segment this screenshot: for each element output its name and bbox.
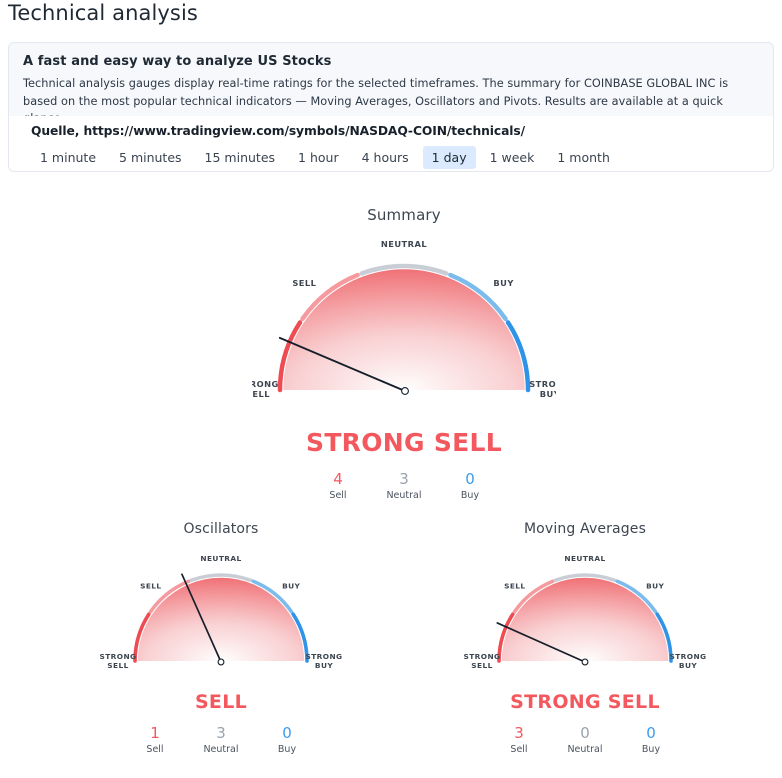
gauge-svg: STRONGSELLSELLNEUTRALBUYSTRONGBUY [252,232,556,422]
count-label-sell: Sell [486,743,552,757]
count-label-sell: Sell [122,743,188,757]
count-value-sell: 4 [305,470,371,489]
count-sell-moving-averages: 3Sell [486,724,552,757]
count-sell-summary: 4Sell [305,470,371,503]
label-strong-sell: STRONGSELL [464,652,501,670]
gauge-title-oscillators: Oscillators [100,521,342,537]
page-title: Technical analysis [8,0,198,28]
timeframe-tab-1-hour[interactable]: 1 hour [289,146,348,169]
count-sell-oscillators: 1Sell [122,724,188,757]
timeframe-tab-1-day[interactable]: 1 day [423,146,476,169]
count-value-neutral: 3 [371,470,437,489]
count-value-buy: 0 [618,724,684,743]
count-value-sell: 1 [122,724,188,743]
verdict-oscillators: SELL [100,691,342,713]
counts-summary: 4Sell3Neutral0Buy [252,470,556,503]
label-strong-buy: STRONGBUY [529,379,556,399]
label-buy: BUY [646,582,664,591]
count-label-buy: Buy [618,743,684,757]
gauge-dial-oscillators: STRONGSELLSELLNEUTRALBUYSTRONGBUY [100,543,342,689]
timeframe-tabs: 1 minute5 minutes15 minutes1 hour4 hours… [31,146,624,169]
gauge-pivot [218,659,224,665]
label-buy: BUY [493,278,514,288]
timeframe-tab-4-hours[interactable]: 4 hours [353,146,418,169]
count-neutral-oscillators: 3Neutral [188,724,254,757]
count-label-buy: Buy [437,489,503,503]
gauge-block-oscillators: Oscillators STRONGSELLSELLNEUTRALBUYSTRO… [100,521,342,757]
count-label-neutral: Neutral [552,743,618,757]
gauge-dial-summary: STRONGSELLSELLNEUTRALBUYSTRONGBUY [252,232,556,426]
source-and-timeframes: Quelle, https://www.tradingview.com/symb… [8,116,774,172]
label-sell: SELL [504,582,525,591]
gauge-fill [138,578,304,661]
count-label-buy: Buy [254,743,320,757]
gauge-svg: STRONGSELLSELLNEUTRALBUYSTRONGBUY [464,543,706,685]
label-strong-sell: STRONGSELL [100,652,137,670]
count-value-neutral: 3 [188,724,254,743]
count-neutral-moving-averages: 0Neutral [552,724,618,757]
gauge-fill [502,578,668,661]
counts-moving-averages: 3Sell0Neutral0Buy [464,724,706,757]
source-link: Quelle, https://www.tradingview.com/symb… [31,124,525,138]
count-value-buy: 0 [437,470,503,489]
label-neutral: NEUTRAL [564,554,605,563]
timeframe-tab-15-minutes[interactable]: 15 minutes [196,146,284,169]
info-panel: A fast and easy way to analyze US Stocks… [8,42,774,116]
count-neutral-summary: 3Neutral [371,470,437,503]
count-value-sell: 3 [486,724,552,743]
gauge-title-summary: Summary [252,206,556,224]
timeframe-tab-5-minutes[interactable]: 5 minutes [110,146,191,169]
count-value-neutral: 0 [552,724,618,743]
count-value-buy: 0 [254,724,320,743]
gauge-pivot [582,659,588,665]
gauge-dial-moving-averages: STRONGSELLSELLNEUTRALBUYSTRONGBUY [464,543,706,689]
label-neutral: NEUTRAL [200,554,241,563]
info-heading: A fast and easy way to analyze US Stocks [23,54,331,69]
count-label-sell: Sell [305,489,371,503]
verdict-summary: STRONG SELL [252,428,556,457]
counts-oscillators: 1Sell3Neutral0Buy [100,724,342,757]
gauge-block-summary: Summary STRONGSELLSELLNEUTRALBUYSTRONGBU… [252,206,556,503]
count-buy-summary: 0Buy [437,470,503,503]
count-buy-oscillators: 0Buy [254,724,320,757]
gauge-block-moving-averages: Moving Averages STRONGSELLSELLNEUTRALBUY… [464,521,706,757]
verdict-moving-averages: STRONG SELL [464,691,706,713]
gauge-fill [283,269,525,390]
label-sell: SELL [292,278,316,288]
label-strong-sell: STRONGSELL [252,379,279,399]
count-label-neutral: Neutral [371,489,437,503]
label-sell: SELL [140,582,161,591]
timeframe-tab-1-week[interactable]: 1 week [481,146,544,169]
label-strong-buy: STRONGBUY [670,652,707,670]
count-buy-moving-averages: 0Buy [618,724,684,757]
gauge-title-moving-averages: Moving Averages [464,521,706,537]
label-neutral: NEUTRAL [381,239,428,249]
gauge-svg: STRONGSELLSELLNEUTRALBUYSTRONGBUY [100,543,342,685]
timeframe-tab-1-month[interactable]: 1 month [548,146,619,169]
label-buy: BUY [282,582,300,591]
timeframe-tab-1-minute[interactable]: 1 minute [31,146,105,169]
technical-analysis-page: Technical analysis A fast and easy way t… [0,0,782,778]
gauge-pivot [402,388,409,395]
label-strong-buy: STRONGBUY [306,652,343,670]
count-label-neutral: Neutral [188,743,254,757]
